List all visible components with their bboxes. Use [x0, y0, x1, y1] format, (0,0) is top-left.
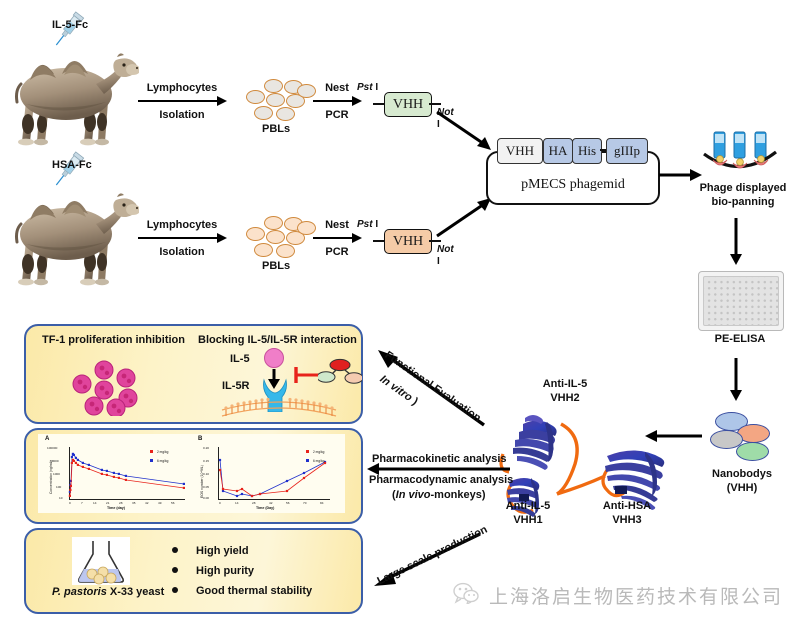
pbl-cluster-1: [242, 78, 314, 120]
pbl-cluster-2: [242, 215, 314, 257]
lymphocyte-isolation-arrow-2: Lymphocytes Isolation: [138, 232, 226, 244]
antigen-label-il5fc: IL-5-Fc: [52, 19, 88, 33]
in-vivo-monkeys-label: (In vivo-monkeys): [392, 489, 486, 503]
restriction-site-not1-label: Not I: [437, 244, 457, 268]
chart-a-legend-label-1: 2 mg/kg: [157, 450, 168, 454]
enzyme-suffix: I: [373, 219, 379, 230]
biopanning-label-line2: bio-panning: [698, 196, 788, 210]
chart-b-legend-marker-1: [306, 450, 309, 453]
chart-a-legend-marker-2: [150, 459, 153, 462]
il5-ligand-label: IL-5: [230, 353, 250, 367]
production-feature-3: Good thermal stability: [196, 585, 312, 597]
structure-label-vhh1-line1: Anti-IL-5: [483, 500, 573, 514]
vhh-gene-label: VHH: [393, 97, 423, 113]
phagemid-title: pMECS phagemid: [488, 177, 658, 193]
arrow-label-bottom: Isolation: [138, 246, 226, 258]
pe-elisa-label: PE-ELISA: [698, 333, 782, 347]
phagemid-to-panning-arrow: [659, 170, 701, 180]
pharmacodynamic-analysis-label: Pharmacodynamic analysis: [369, 474, 513, 488]
nanobody-label-line1: Nanobodys: [696, 468, 788, 482]
biopanning-label-line1: Phage displayed: [698, 182, 788, 196]
structure-label-vhh2: Anti-IL-5 VHH2: [520, 378, 610, 406]
chart-b: 0.20 0.15 0.10 0.05 0.00 EOS number (10^…: [198, 440, 348, 512]
company-watermark-text: 上海洛启生物医药技术有限公司: [489, 582, 783, 609]
il5r-receptor-label: IL-5R: [222, 380, 250, 394]
production-feature-2: High purity: [196, 565, 254, 577]
vhh-gene-box: VHH: [384, 92, 432, 117]
arrow-label-top: Lymphocytes: [138, 219, 226, 231]
microplate-icon: [698, 271, 784, 331]
phage-tubes-icon: [700, 130, 780, 187]
structure-label-vhh1: Anti-IL-5 VHH1: [483, 500, 573, 528]
restriction-site-pst1-label: Pst I: [357, 82, 378, 94]
biopanning-label: Phage displayed bio-panning: [698, 182, 788, 210]
nest-pcr-arrow-2: Nest PCR: [313, 232, 361, 244]
structure-label-vhh1-line2: VHH1: [483, 514, 573, 528]
chip-label: HA: [549, 143, 568, 159]
chip-label: gIIIp: [614, 143, 640, 159]
arrow-label-top: Nest: [313, 219, 361, 231]
chart-b-legend-label-1: 2 mg/kg: [313, 450, 324, 454]
pharmacokinetic-analysis-label: Pharmacokinetic analysis: [372, 453, 507, 467]
antigen-label-hsafc: HSA-Fc: [52, 159, 92, 173]
tf1-cell-icon: [60, 358, 170, 416]
bullet-point-2: [172, 567, 178, 573]
pbls-label-1: PBLs: [262, 123, 290, 137]
chart-b-legend-label-2: 6 mg/kg: [313, 459, 324, 463]
pbls-label-2: PBLs: [262, 260, 290, 274]
enzyme-name: Pst: [357, 219, 373, 230]
nest-pcr-arrow-1: Nest PCR: [313, 95, 361, 107]
tf1-panel-title: TF-1 proliferation inhibition: [42, 334, 185, 346]
blocking-panel-title: Blocking IL-5/IL-5R interaction: [198, 334, 357, 346]
phagemid-chip-giiip: gIIIp: [606, 138, 648, 164]
camel-icon: [4, 178, 139, 290]
arrow-label-top: Lymphocytes: [138, 82, 226, 94]
phagemid-chip-ha: HA: [543, 138, 573, 164]
enzyme-suffix: I: [437, 256, 440, 267]
production-feature-1: High yield: [196, 545, 249, 557]
arrow-label-bottom: PCR: [313, 246, 361, 258]
nanobody-label-line2: (VHH): [696, 482, 788, 496]
restriction-site-pst1-label: Pst I: [357, 219, 378, 231]
enzyme-suffix: I: [373, 82, 379, 93]
camel-icon: [4, 38, 139, 150]
trispecific-nanobody-icon: [318, 358, 362, 395]
elisa-to-nanobody-arrow: [726, 358, 746, 400]
lipid-bilayer-icon: [220, 396, 338, 425]
structure-label-vhh3: Anti-HSA VHH3: [582, 500, 672, 528]
vhh-gene-box: VHH: [384, 229, 432, 254]
structure-label-vhh2-line1: Anti-IL-5: [520, 378, 610, 392]
flask-icon-background: [72, 537, 130, 585]
nanobody-ellipse-4: [736, 442, 769, 461]
phagemid-chip-his: His: [572, 138, 602, 164]
bullet-point-3: [172, 587, 178, 593]
yeast-species-name: P. pastoris: [52, 586, 107, 598]
nanobody-label: Nanobodys (VHH): [696, 468, 788, 496]
bullet-point-1: [172, 547, 178, 553]
vhh-gene-label: VHH: [393, 234, 423, 250]
yeast-strain-label: P. pastoris X-33 yeast: [52, 586, 164, 600]
chart-a-legend-marker-1: [150, 450, 153, 453]
chip-label: VHH: [506, 143, 534, 159]
panning-to-elisa-arrow: [726, 218, 746, 264]
structure-label-vhh3-line1: Anti-HSA: [582, 500, 672, 514]
arrow-label-bottom: Isolation: [138, 109, 226, 121]
chip-label: His: [578, 143, 596, 159]
enzyme-name: Pst: [357, 82, 373, 93]
chart-a-legend-label-2: 6 mg/kg: [157, 459, 168, 463]
chart-a: 100000 10000 1000 100 10 Concentration (…: [45, 440, 195, 512]
lymphocyte-isolation-arrow-1: Lymphocytes Isolation: [138, 95, 226, 107]
nanobody-cluster-icon: [707, 412, 777, 462]
phagemid-chip-vhh: VHH: [497, 138, 543, 164]
yeast-strain-rest: X-33 yeast: [107, 586, 164, 598]
structure-label-vhh3-line2: VHH3: [582, 514, 672, 528]
arrow-label-bottom: PCR: [313, 109, 361, 121]
wechat-icon: [453, 582, 479, 609]
arrow-label-top: Nest: [313, 82, 361, 94]
enzyme-name: Not: [437, 244, 454, 255]
chart-b-legend-marker-2: [306, 459, 309, 462]
